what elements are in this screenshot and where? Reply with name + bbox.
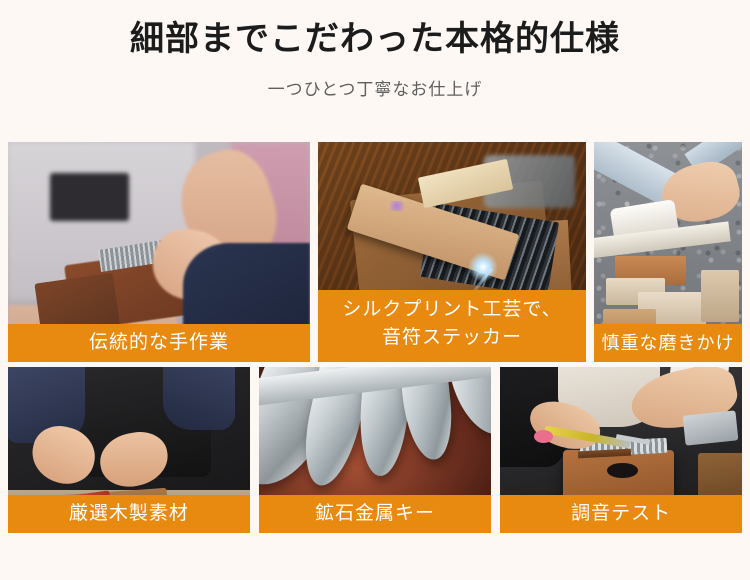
feature-caption: 厳選木製素材: [8, 495, 250, 533]
page-header: 細部までこだわった本格的仕様 一つひとつ丁寧なお仕上げ: [0, 0, 750, 100]
feature-card-tuning-test[interactable]: 調音テスト: [500, 367, 742, 533]
column-gap: [491, 367, 500, 533]
feature-card-selected-wood-material[interactable]: 厳選木製素材: [8, 367, 250, 533]
product-feature-gallery-page: 細部までこだわった本格的仕様 一つひとつ丁寧なお仕上げ 伝統的な手作業: [0, 0, 750, 580]
caption-line: 鉱石金属キー: [263, 500, 488, 528]
feature-caption: 調音テスト: [500, 495, 742, 533]
feature-card-traditional-handwork[interactable]: 伝統的な手作業: [8, 142, 310, 362]
feature-card-careful-polishing[interactable]: 慎重な磨きかけ: [594, 142, 742, 362]
feature-card-silkprint-note-sticker[interactable]: シルクプリント工芸で、 音符ステッカー: [318, 142, 586, 362]
column-gap: [310, 142, 318, 362]
column-gap: [586, 142, 594, 362]
feature-grid: 伝統的な手作業 シルクプリント工芸で、 音符ステッカー: [8, 142, 742, 533]
caption-line: 伝統的な手作業: [12, 329, 306, 357]
feature-row-1: 伝統的な手作業 シルクプリント工芸で、 音符ステッカー: [8, 142, 742, 362]
feature-row-2: 厳選木製素材 鉱石金属キー: [8, 367, 742, 533]
page-title: 細部までこだわった本格的仕様: [0, 18, 750, 61]
feature-caption: シルクプリント工芸で、 音符ステッカー: [318, 290, 586, 362]
feature-caption: 鉱石金属キー: [259, 495, 492, 533]
column-gap: [250, 367, 259, 533]
caption-line: 調音テスト: [504, 500, 738, 528]
feature-card-ore-metal-keys[interactable]: 鉱石金属キー: [259, 367, 492, 533]
feature-caption: 慎重な磨きかけ: [594, 324, 742, 362]
caption-line: 慎重な磨きかけ: [598, 329, 738, 357]
caption-line: 音符ステッカー: [322, 324, 582, 352]
caption-line: シルクプリント工芸で、: [322, 296, 582, 324]
page-subtitle: 一つひとつ丁寧なお仕上げ: [0, 75, 750, 100]
feature-caption: 伝統的な手作業: [8, 324, 310, 362]
caption-line: 厳選木製素材: [12, 500, 246, 528]
